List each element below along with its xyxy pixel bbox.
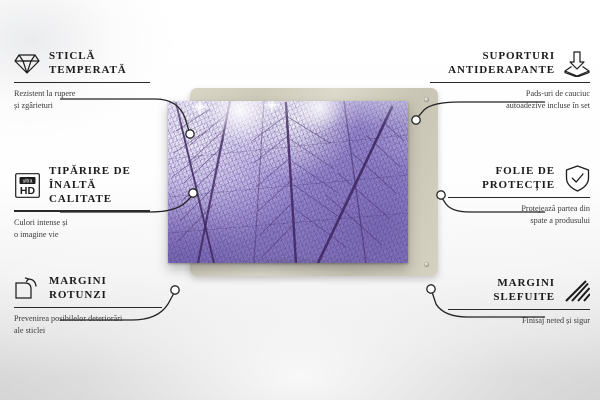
feature-callout-margini-rotunzi: MARGINIROTUNZI Prevenirea posibilelor de… — [14, 275, 162, 337]
callout-header: ultra HD TIPĂRIRE DEÎNALTĂ CALITATE — [14, 165, 150, 206]
feature-callout-tiparire-inalta-calitate: ultra HD TIPĂRIRE DEÎNALTĂ CALITATE Culo… — [14, 165, 150, 240]
leaf-main-veins — [168, 101, 408, 263]
anti-slip-pad-icon — [564, 51, 590, 77]
callout-divider — [14, 307, 162, 308]
connector-dot-folie — [437, 191, 445, 199]
feature-callout-suporturi-antiderapante: SUPORTURIANTIDERAPANTE Pads-uri de cauci… — [430, 50, 590, 112]
feature-callout-sticla-temperata: STICLĂTEMPERATĂ Rezistent la rupereși zg… — [14, 50, 150, 112]
callout-title: MARGINIROTUNZI — [49, 275, 107, 303]
shield-check-icon — [564, 166, 590, 192]
callout-divider — [14, 210, 150, 211]
callout-description: Rezistent la rupereși zgârieturi — [14, 88, 150, 112]
callout-description: Pads-uri de cauciucautoadezive incluse î… — [430, 88, 590, 112]
svg-text:ultra: ultra — [22, 179, 32, 185]
mounting-hole-bottom-right — [424, 262, 429, 267]
callout-title: MARGINISLEFUITE — [493, 277, 555, 305]
callout-title: FOLIE DEPROTECȚIE — [482, 165, 555, 193]
callout-description: Finisaj neted și sigur — [448, 315, 590, 327]
callout-title: STICLĂTEMPERATĂ — [49, 50, 127, 78]
feature-callout-margini-slefuite: MARGINISLEFUITE Finisaj neted și sigur — [448, 277, 590, 327]
callout-divider — [448, 309, 590, 310]
callout-description: Protejează partea dinspate a produsului — [448, 203, 590, 227]
board-drop-shadow — [172, 260, 408, 274]
callout-description: Culori intense șio imagine vie — [14, 217, 150, 241]
callout-header: FOLIE DEPROTECȚIE — [448, 165, 590, 193]
connector-dot-margini-rotunzi — [171, 286, 179, 294]
connector-dot-margini-slefuite — [427, 285, 435, 293]
callout-header: SUPORTURIANTIDERAPANTE — [430, 50, 590, 78]
callout-title: SUPORTURIANTIDERAPANTE — [448, 50, 555, 78]
callout-divider — [448, 197, 590, 198]
feature-callout-folie-de-protectie: FOLIE DEPROTECȚIE Protejează partea dins… — [448, 165, 590, 227]
callout-description: Prevenirea posibilelor deteriorăriale st… — [14, 313, 162, 337]
callout-header: STICLĂTEMPERATĂ — [14, 50, 150, 78]
callout-title: TIPĂRIRE DEÎNALTĂ CALITATE — [49, 165, 150, 206]
svg-text:HD: HD — [19, 185, 35, 197]
ultra-hd-icon: ultra HD — [14, 173, 40, 199]
callout-divider — [430, 82, 590, 83]
hatch-lines-icon — [564, 278, 590, 304]
leaf-photo — [168, 101, 408, 263]
rounded-corner-icon — [14, 276, 40, 302]
callout-header: MARGINIROTUNZI — [14, 275, 162, 303]
glass-board — [168, 101, 408, 263]
diamond-icon — [14, 51, 40, 77]
callout-divider — [14, 82, 150, 83]
callout-header: MARGINISLEFUITE — [448, 277, 590, 305]
mounting-hole-top-right — [424, 97, 429, 102]
product-image-stage — [168, 88, 438, 276]
